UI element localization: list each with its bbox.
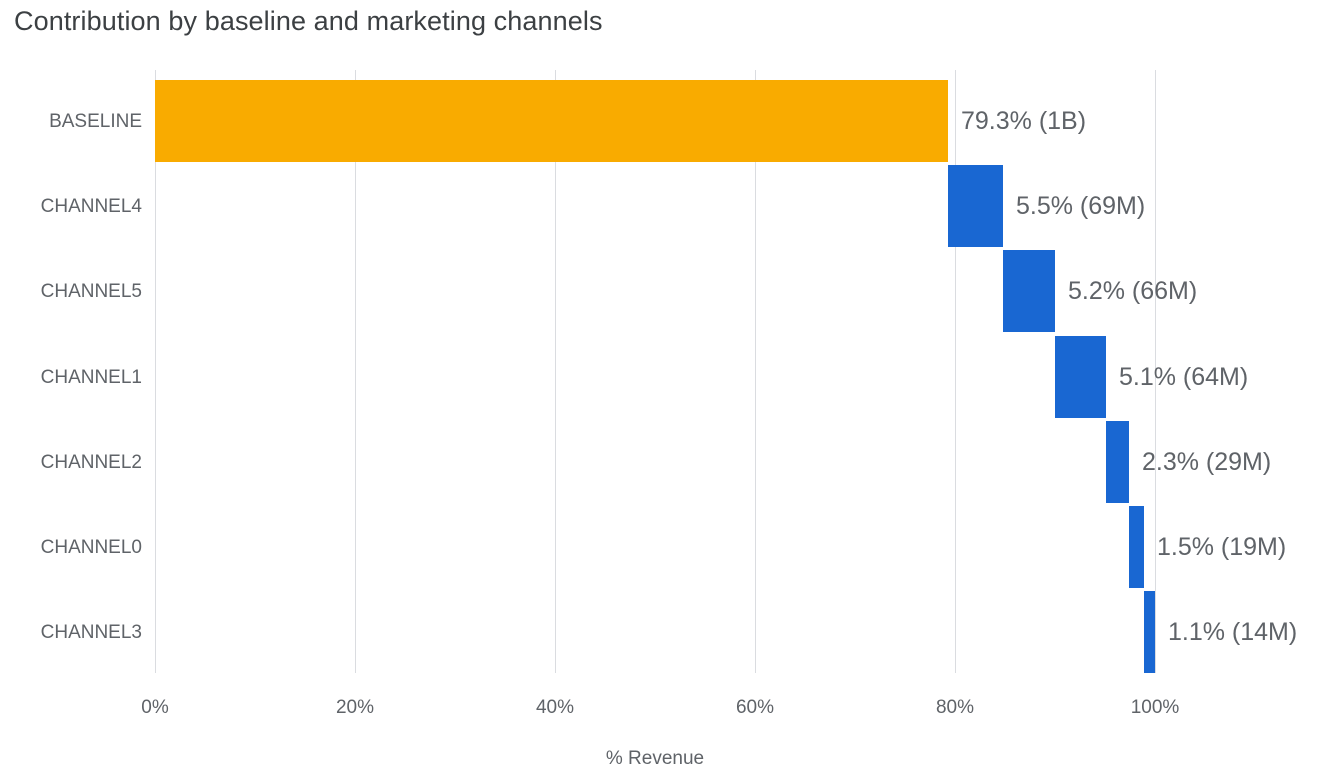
x-tick-20: 20%	[336, 698, 374, 717]
x-tick-40: 40%	[536, 698, 574, 717]
x-tick-80: 80%	[936, 698, 974, 717]
x-tick-60: 60%	[736, 698, 774, 717]
x-tick-0: 0%	[141, 698, 168, 717]
waterfall-chart: Contribution by baseline and marketing c…	[0, 0, 1330, 781]
x-axis-tick-labels: 0%20%40%60%80%100%	[0, 0, 1330, 781]
x-axis-title: % Revenue	[0, 748, 1330, 770]
x-axis-title-text: % Revenue	[606, 748, 704, 769]
x-tick-100: 100%	[1131, 698, 1180, 717]
